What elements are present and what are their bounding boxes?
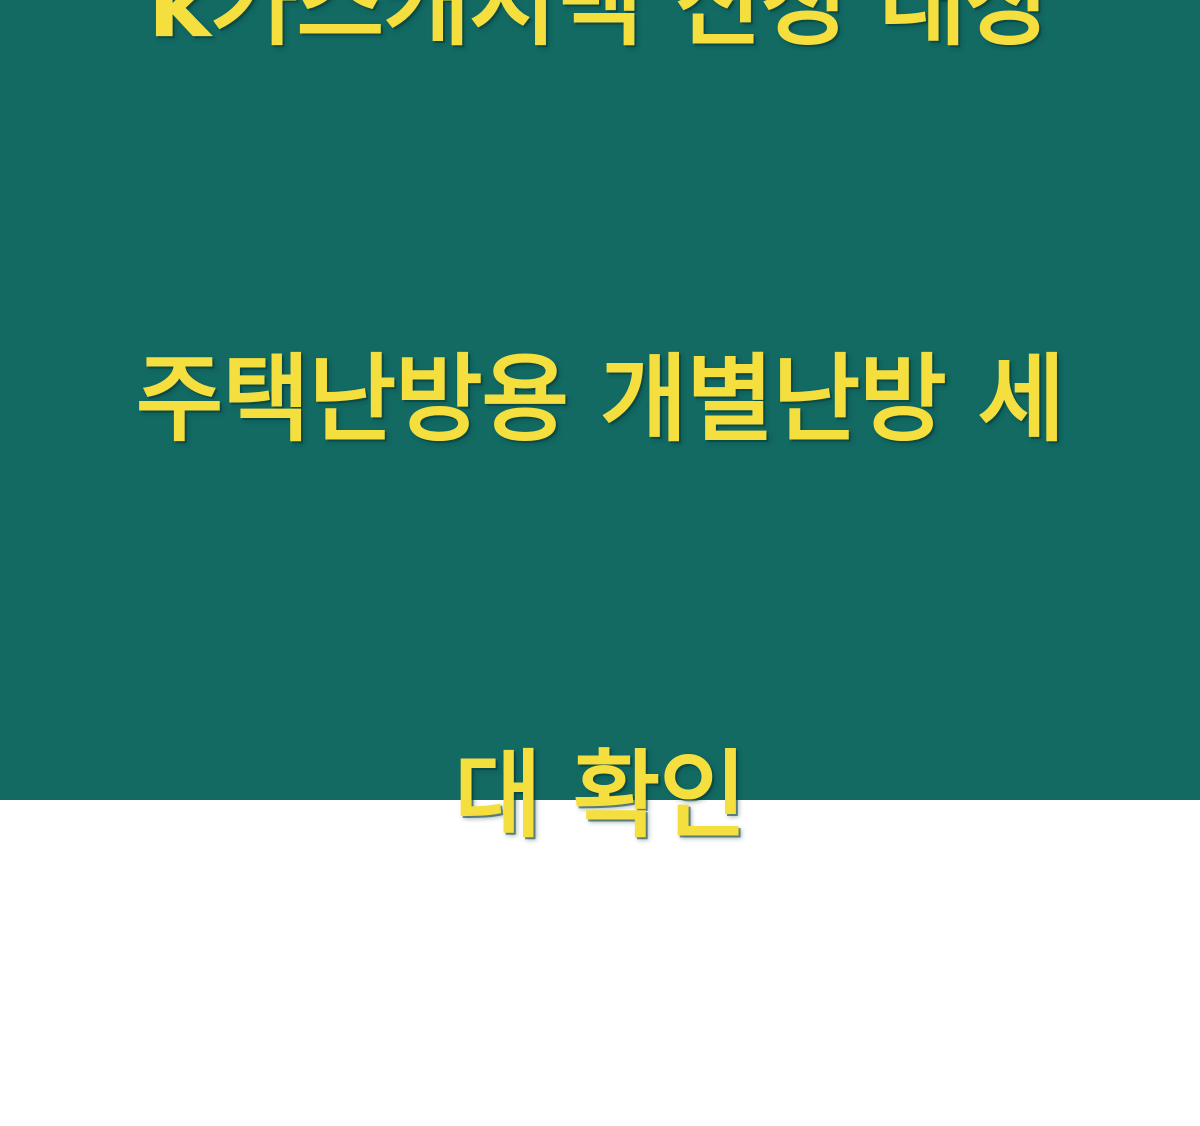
headline-line-3: 대 확인 [85, 730, 1115, 862]
headline-line-2: 주택난방용 개별난방 세 [85, 334, 1115, 466]
banner-canvas: k가스캐시백 신청 대상 주택난방용 개별난방 세 대 확인 [0, 0, 1200, 800]
page-title: k가스캐시백 신청 대상 주택난방용 개별난방 세 대 확인 [85, 0, 1115, 1126]
headline-line-1: k가스캐시백 신청 대상 [85, 0, 1115, 70]
